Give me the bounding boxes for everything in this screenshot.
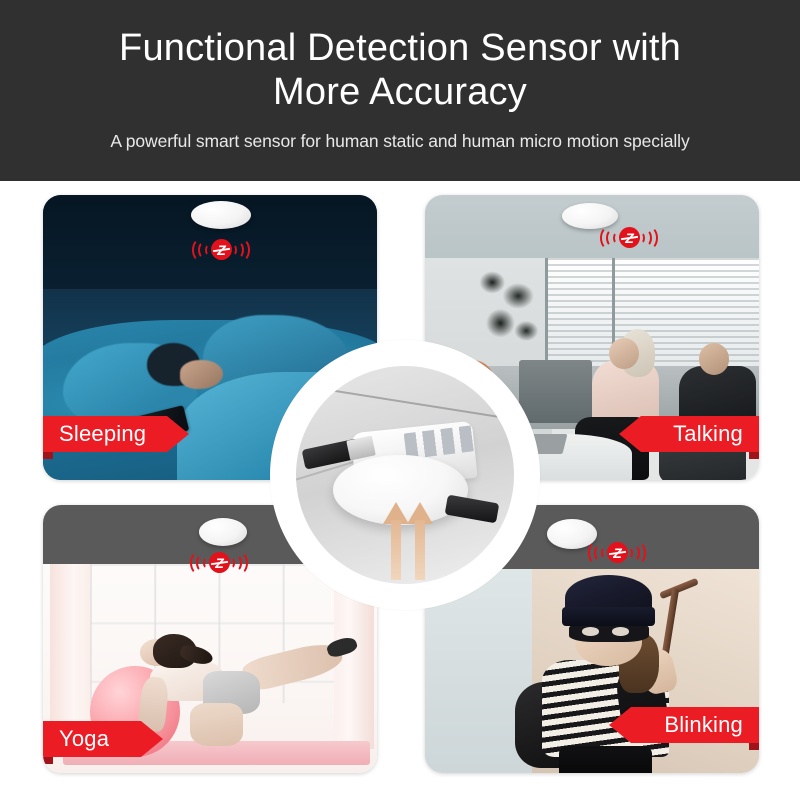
zigbee-signal-icon: Z bbox=[588, 540, 646, 566]
man-listening-head bbox=[699, 343, 729, 374]
banner-fold bbox=[43, 452, 53, 459]
page-subtitle: A powerful smart sensor for human static… bbox=[110, 130, 689, 152]
burglar-eye-right bbox=[612, 627, 629, 636]
woman-speaking-head bbox=[609, 338, 639, 369]
man-listening-legs bbox=[659, 429, 746, 480]
ceiling-sensor-icon bbox=[191, 201, 251, 229]
curtain-left bbox=[50, 561, 90, 733]
product-feature-banner: Functional Detection Sensor with More Ac… bbox=[0, 0, 800, 800]
zigbee-signal-icon: Z bbox=[192, 237, 250, 263]
burglar-pants bbox=[559, 746, 653, 773]
header-banner: Functional Detection Sensor with More Ac… bbox=[0, 0, 800, 181]
beanie-brim bbox=[562, 607, 656, 626]
product-photo bbox=[296, 366, 514, 584]
burglar-eye-left bbox=[582, 627, 599, 636]
page-title-line1: Functional Detection Sensor with bbox=[119, 26, 681, 70]
zigbee-signal-icon: Z bbox=[600, 225, 658, 251]
detection-arrow-up-icon bbox=[383, 500, 409, 580]
detection-arrow-up-icon bbox=[407, 500, 433, 580]
page-title-line2: More Accuracy bbox=[119, 70, 681, 114]
ceiling-sensor-icon bbox=[199, 518, 247, 546]
banner-fold bbox=[43, 757, 53, 764]
kneeling-leg bbox=[190, 703, 243, 746]
banner-fold bbox=[749, 452, 759, 459]
banner-fold bbox=[749, 743, 759, 750]
page-title: Functional Detection Sensor with More Ac… bbox=[119, 26, 681, 114]
detection-arrows bbox=[296, 506, 514, 580]
product-closeup-circle[interactable] bbox=[270, 340, 540, 610]
zigbee-signal-icon: Z bbox=[190, 550, 248, 576]
